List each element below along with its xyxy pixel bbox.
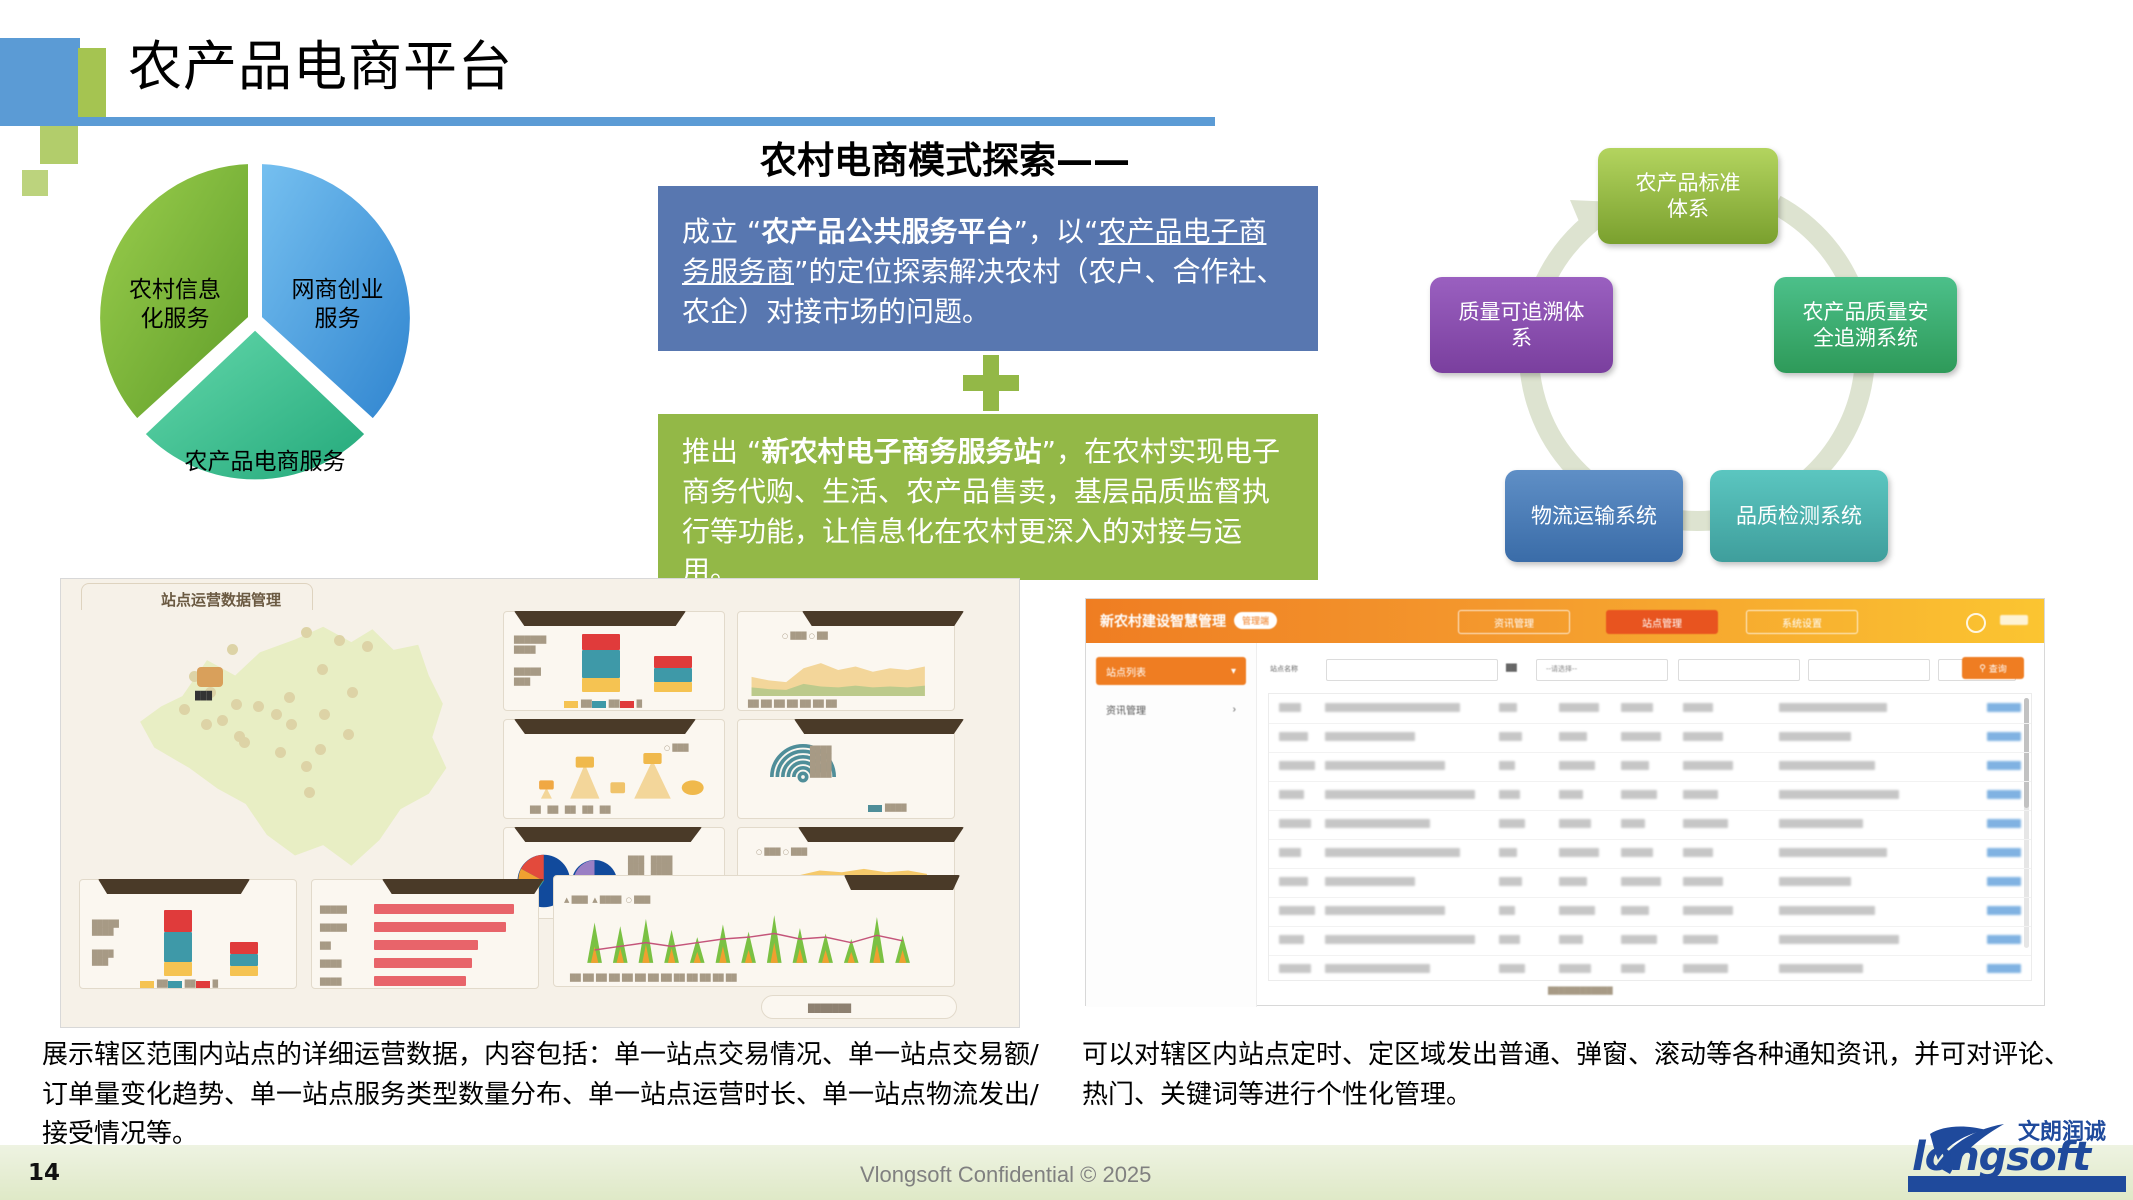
caption-left: 展示辖区范围内站点的详细运营数据，内容包括：单一站点交易情况、单一站点交易额/订… (42, 1036, 1052, 1155)
table-cell (1683, 703, 1713, 712)
table-row[interactable] (1269, 752, 2031, 782)
row-edit-link[interactable] (1987, 906, 2021, 915)
table-row[interactable] (1269, 810, 2031, 840)
map-pin-label: ███ (195, 691, 212, 700)
select-placeholder: --请选择-- (1546, 664, 1577, 674)
table-cell (1779, 906, 1875, 915)
table-cell (1499, 877, 1522, 886)
logo-chinese: 文朗润诚 (2018, 1114, 2106, 1146)
table-cell (1621, 732, 1661, 741)
plus-icon (963, 355, 1019, 411)
table-cell (1499, 790, 1520, 799)
table-cell (1279, 761, 1315, 770)
search-icon[interactable] (1966, 613, 1986, 633)
section-heading: 农村电商模式探索—— (760, 130, 1130, 184)
table-cell (1683, 848, 1713, 857)
table-cell (1779, 848, 1887, 857)
search-icon: ⚲ (1979, 663, 1986, 674)
table-cell (1499, 819, 1525, 828)
row-edit-link[interactable] (1987, 703, 2021, 712)
panel-header (514, 719, 696, 734)
map-region-shape (119, 619, 471, 876)
table-cell (1621, 790, 1657, 799)
left-dashboard-screenshot[interactable]: 站点运营数据管理 ███ ██████ ████ █████ (60, 578, 1020, 1028)
station-map: ███ (79, 609, 499, 879)
pie-label-rural-info: 农村信息 化服务 (105, 276, 245, 334)
table-cell (1325, 935, 1475, 944)
table-cell (1559, 877, 1587, 886)
date-input[interactable] (1808, 659, 1930, 681)
page-number: 14 (28, 1160, 60, 1186)
sidebar-item-news[interactable]: 资讯管理› (1096, 697, 1246, 721)
panel-logistics-trend: ▲ ███ ▲ ████ ○ ███ ██ ██ ██ ██ ██ ██ ██ … (553, 875, 955, 987)
table-cell (1279, 848, 1301, 857)
table-cell (1779, 819, 1863, 828)
header-rule (0, 117, 1215, 126)
table-cell (1559, 819, 1591, 828)
table-cell (1279, 790, 1304, 799)
dashboard-footer-badge: ███████ (761, 995, 957, 1019)
right-dashboard-badge: 管理端 (1234, 612, 1277, 629)
table-row[interactable] (1269, 897, 2031, 927)
table-cell (1559, 964, 1591, 973)
panel-transaction-overview: ██████ ████ █████ ███ █████ (503, 611, 725, 711)
header-blue-square (0, 38, 80, 124)
table-cell (1779, 964, 1863, 973)
table-cell (1325, 790, 1475, 799)
table-cell (1683, 964, 1728, 973)
table-cell (1683, 877, 1723, 886)
panel-header (798, 827, 964, 842)
table-row[interactable] (1269, 723, 2031, 753)
sidebar-item-station-list[interactable]: 站点列表▾ (1096, 657, 1246, 685)
row-edit-link[interactable] (1987, 877, 2021, 886)
cycle-node-quality-trace[interactable]: 质量可追溯体 系 (1430, 277, 1613, 373)
table-cell (1779, 732, 1851, 741)
table-row[interactable] (1269, 868, 2031, 898)
table-cell (1683, 935, 1718, 944)
table-cell (1279, 732, 1308, 741)
panel-spiral-metric: ████████████████ ████ (737, 719, 955, 819)
cycle-diagram: 农产品标准 体系 农产品质量安 全追溯系统 品质检测系统 物流运输系统 质量可追… (1420, 140, 1990, 565)
row-edit-link[interactable] (1987, 819, 2021, 828)
table-cell (1621, 964, 1645, 973)
nav-item-news[interactable]: 资讯管理 (1458, 610, 1570, 634)
table-cell (1279, 964, 1311, 973)
table-cell (1621, 848, 1653, 857)
header-green-square-2 (40, 124, 78, 164)
table-row[interactable] (1269, 955, 2031, 981)
table-cell (1779, 877, 1851, 886)
callout-green-text: 推出 “新农村电子商务服务站”，在农村实现电子商务代购、生活、农产品售卖，基层品… (682, 435, 1280, 587)
table-row[interactable] (1269, 839, 2031, 869)
table-pagination[interactable]: ████████████ (1268, 983, 2030, 1003)
company-logo: longsoft 文朗润诚 (1908, 1108, 2126, 1192)
table-row[interactable] (1269, 926, 2031, 956)
table-cell (1683, 790, 1718, 799)
row-edit-link[interactable] (1987, 848, 2021, 857)
table-cell (1559, 935, 1583, 944)
table-cell (1499, 732, 1522, 741)
table-cell (1325, 964, 1430, 973)
chevron-down-icon: ▾ (1231, 666, 1236, 677)
page-title: 农产品电商平台 (128, 22, 513, 101)
callout-green: 推出 “新农村电子商务服务站”，在农村实现电子商务代购、生活、农产品售卖，基层品… (658, 414, 1318, 580)
table-cell (1779, 790, 1899, 799)
logo-band (1908, 1176, 2126, 1192)
right-dashboard-logo: 新农村建设智慧管理 (1100, 611, 1226, 631)
nav-item-station[interactable]: 站点管理 (1606, 610, 1718, 634)
table-cell (1559, 703, 1599, 712)
row-edit-link[interactable] (1987, 935, 2021, 944)
row-edit-link[interactable] (1987, 732, 2021, 741)
table-cell (1779, 935, 1899, 944)
station-table[interactable] (1268, 693, 2032, 981)
three-part-pie-diagram: 农村信息 化服务 网商创业 服务 农产品电商服务 (85, 148, 425, 488)
cycle-node-safety-trace[interactable]: 农产品质量安 全追溯系统 (1774, 277, 1957, 373)
table-cell (1499, 906, 1515, 915)
table-cell (1325, 848, 1460, 857)
confidential-notice: Vlongsoft Confidential © 2025 (860, 1162, 1151, 1188)
table-cell (1683, 906, 1733, 915)
panel-service-type-distribution: ○ ███ ██ ██ ██ ██ ██ (503, 719, 725, 819)
panel-header (98, 879, 250, 894)
table-cell (1621, 703, 1653, 712)
table-cell (1499, 703, 1517, 712)
table-cell (1621, 819, 1645, 828)
table-cell (1325, 819, 1430, 828)
table-cell (1559, 906, 1595, 915)
table-cell (1621, 935, 1657, 944)
table-cell (1325, 906, 1445, 915)
table-cell (1499, 848, 1517, 857)
cycle-node-standard[interactable]: 农产品标准 体系 (1598, 148, 1778, 244)
cycle-node-logistics[interactable]: 物流运输系统 (1505, 470, 1683, 562)
table-cell (1559, 761, 1595, 770)
callout-blue-text: 成立 “农产品公共服务平台”，以“农产品电子商务服务商”的定位探索解决农村（农户… (682, 215, 1285, 328)
table-cell (1683, 761, 1733, 770)
table-cell (1325, 732, 1415, 741)
right-dashboard-sidebar: 站点列表▾ 资讯管理› (1086, 643, 1257, 1007)
table-cell (1279, 877, 1308, 886)
panel-header (844, 875, 960, 890)
panel-header (514, 611, 686, 626)
callout-blue: 成立 “农产品公共服务平台”，以“农产品电子商务服务商”的定位探索解决农村（农户… (658, 186, 1318, 351)
map-highlight-pin (197, 667, 223, 687)
table-cell (1559, 848, 1599, 857)
table-cell (1499, 935, 1520, 944)
panel-header (802, 611, 964, 626)
panel-bottom-stacked: █████████ ███████ █████ (79, 879, 297, 989)
table-cell (1325, 761, 1445, 770)
right-dashboard-screenshot[interactable]: 新农村建设智慧管理 管理端 资讯管理 站点管理 系统设置 站点列表▾ 资讯管理›… (1085, 598, 2045, 1006)
user-menu[interactable] (2000, 615, 2028, 625)
row-edit-link[interactable] (1987, 790, 2021, 799)
panel-header (794, 719, 964, 734)
header-green-square-1 (78, 48, 106, 124)
row-edit-link[interactable] (1987, 761, 2021, 770)
pie-label-agri-ecommerce: 农产品电商服务 (145, 448, 385, 477)
table-cell (1621, 761, 1649, 770)
panel-transaction-trend: ○ ███ ○ ██ ██ ██ ██ ██ ██ ██ ██ (737, 611, 955, 711)
caption-right: 可以对辖区内站点定时、定区域发出普通、弹窗、滚动等各种通知资讯，并可对评论、热门… (1082, 1036, 2092, 1115)
table-row[interactable] (1269, 781, 2031, 811)
filter-label: 站点名称 (1270, 664, 1298, 674)
right-dashboard-filter-bar: 站点名称 ██ --请选择-- ⚲ 查询 (1268, 655, 2030, 685)
pie-label-online-biz: 网商创业 服务 (270, 276, 405, 334)
table-cell (1621, 906, 1649, 915)
search-button[interactable]: ⚲ 查询 (1962, 657, 2024, 679)
table-cell (1559, 790, 1583, 799)
table-cell (1779, 761, 1875, 770)
table-cell (1279, 906, 1315, 915)
table-cell (1325, 703, 1460, 712)
table-cell (1279, 935, 1304, 944)
table-cell (1279, 819, 1311, 828)
station-name-input[interactable] (1326, 659, 1498, 681)
chevron-right-icon: › (1233, 704, 1236, 715)
table-row[interactable] (1269, 694, 2031, 724)
panel-header (514, 827, 702, 842)
table-cell (1779, 703, 1887, 712)
table-cell (1499, 964, 1525, 973)
panel-header (382, 879, 544, 894)
dashboard-title: 站点运营数据管理 (161, 589, 281, 610)
panel-station-rank: █████ █████ ██ ████ ████ (311, 879, 539, 989)
region-select[interactable] (1678, 659, 1800, 681)
table-cell (1683, 819, 1728, 828)
table-cell (1279, 703, 1301, 712)
table-cell (1621, 877, 1661, 886)
nav-item-system[interactable]: 系统设置 (1746, 610, 1858, 634)
table-cell (1499, 761, 1515, 770)
table-cell (1683, 732, 1723, 741)
cycle-node-quality-check[interactable]: 品质检测系统 (1710, 470, 1888, 562)
header-green-square-3 (22, 170, 48, 196)
table-cell (1559, 732, 1587, 741)
row-edit-link[interactable] (1987, 964, 2021, 973)
table-cell (1325, 877, 1415, 886)
